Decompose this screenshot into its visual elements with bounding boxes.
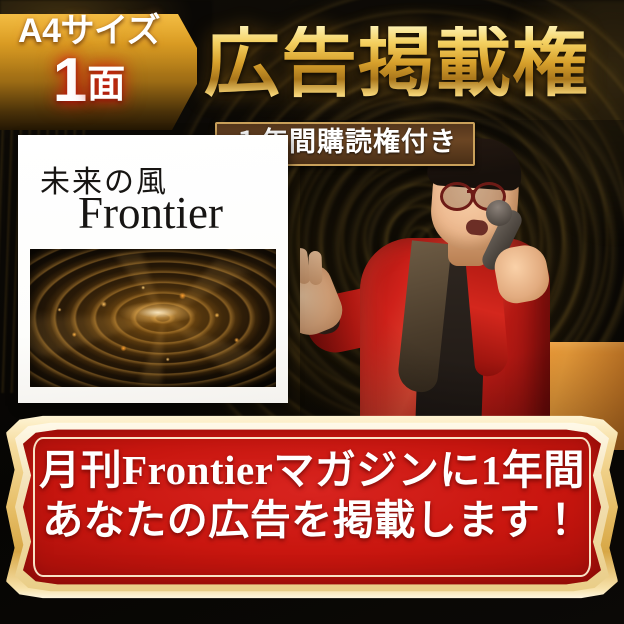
- galaxy-spiral-icon: [30, 252, 276, 384]
- size-badge-unit: 面: [87, 64, 125, 106]
- promo-banner-root: 広告掲載権 A4サイズ 1面 １年間購読権付き 未来の風 Frontier 月刊…: [0, 0, 624, 624]
- speaker-photo: [300, 120, 624, 450]
- size-badge-line2: 1面: [0, 50, 178, 112]
- size-badge-line1: A4サイズ: [0, 14, 178, 48]
- banner-message: 月刊Frontierマガジンに1年間 あなたの広告を掲載します！: [6, 448, 618, 544]
- speaker-finger-3: [308, 251, 322, 285]
- glasses-bridge: [467, 190, 474, 193]
- bottom-message-banner: 月刊Frontierマガジンに1年間 あなたの広告を掲載します！: [6, 414, 618, 600]
- magazine-english-title: Frontier: [78, 187, 223, 239]
- banner-message-line2: あなたの広告を掲載します！: [6, 498, 618, 544]
- size-badge-number: 1: [53, 46, 85, 115]
- magazine-cover: 未来の風 Frontier: [18, 135, 288, 403]
- banner-message-line1: 月刊Frontierマガジンに1年間: [6, 448, 618, 494]
- magazine-cover-photo: [30, 249, 276, 387]
- speaker-mouth: [465, 219, 488, 236]
- page-title: 広告掲載権: [204, 26, 589, 102]
- glasses-left-lens-icon: [440, 182, 474, 211]
